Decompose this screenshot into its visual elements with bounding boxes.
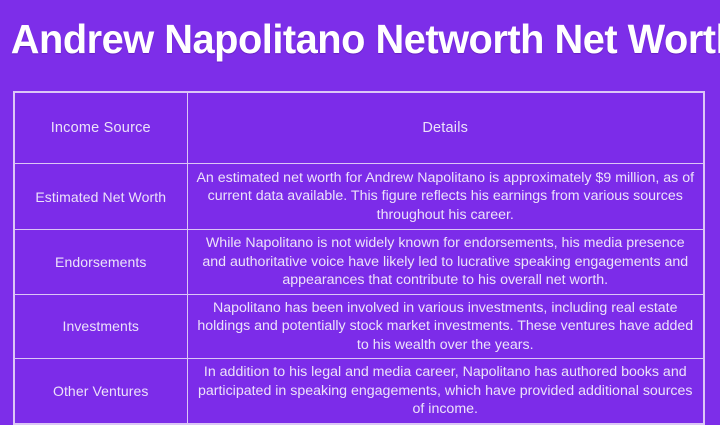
table-row: Other Ventures In addition to his legal … xyxy=(14,359,704,424)
row-details-other-ventures: In addition to his legal and media caree… xyxy=(187,359,704,424)
table-row: Investments Napolitano has been involved… xyxy=(14,294,704,359)
table-header-row: Income Source Details xyxy=(14,92,704,164)
row-details-estimated-net-worth: An estimated net worth for Andrew Napoli… xyxy=(187,164,704,230)
page-title: Andrew Napolitano Networth Net Worth xyxy=(11,14,709,64)
row-details-endorsements: While Napolitano is not widely known for… xyxy=(187,230,704,295)
table-row: Endorsements While Napolitano is not wid… xyxy=(14,230,704,295)
row-details-investments: Napolitano has been involved in various … xyxy=(187,294,704,359)
row-source-estimated-net-worth: Estimated Net Worth xyxy=(14,164,187,230)
row-source-endorsements: Endorsements xyxy=(14,230,187,295)
row-source-other-ventures: Other Ventures xyxy=(14,359,187,424)
row-source-investments: Investments xyxy=(14,294,187,359)
column-header-details: Details xyxy=(187,92,704,164)
column-header-income-source: Income Source xyxy=(14,92,187,164)
table-row: Estimated Net Worth An estimated net wor… xyxy=(14,164,704,230)
networth-table: Income Source Details Estimated Net Wort… xyxy=(13,91,705,425)
